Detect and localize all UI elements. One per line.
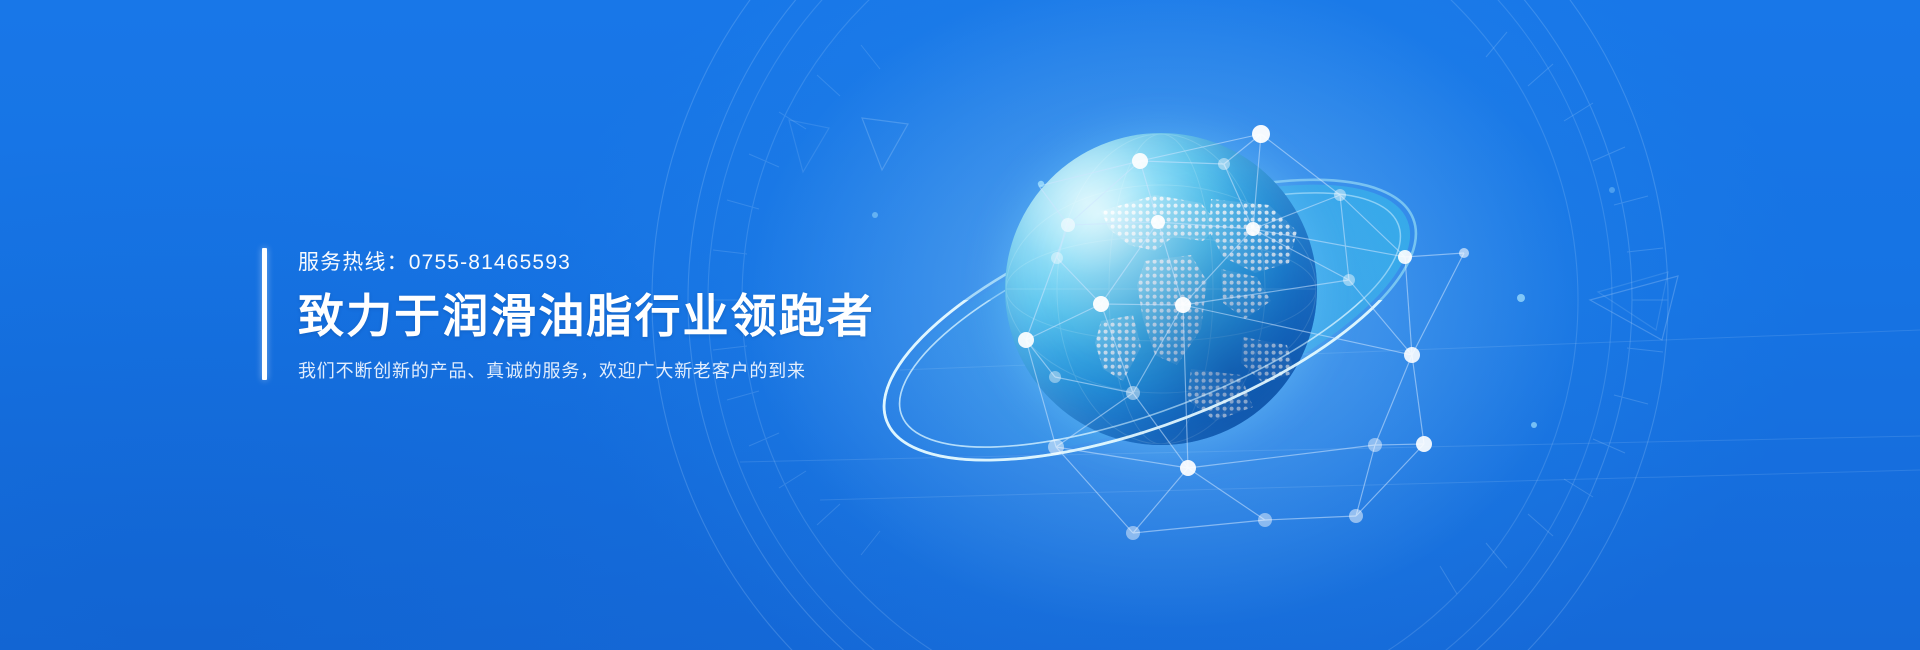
ambient-dots [872, 181, 1615, 428]
hero-subheadline: 我们不断创新的产品、真诚的服务，欢迎广大新老客户的到来 [298, 362, 875, 380]
hero-copy-block: 服务热线：0755-81465593 致力于润滑油脂行业领跑者 我们不断创新的产… [262, 248, 875, 380]
service-hotline: 服务热线：0755-81465593 [298, 252, 875, 273]
hero-banner: 服务热线：0755-81465593 致力于润滑油脂行业领跑者 我们不断创新的产… [0, 0, 1920, 650]
accent-bar [262, 248, 267, 380]
network-edges [1026, 134, 1464, 533]
hero-copy-text: 服务热线：0755-81465593 致力于润滑油脂行业领跑者 我们不断创新的产… [298, 248, 875, 380]
network-nodes [1018, 125, 1469, 540]
hero-headline: 致力于润滑油脂行业领跑者 [298, 293, 875, 339]
